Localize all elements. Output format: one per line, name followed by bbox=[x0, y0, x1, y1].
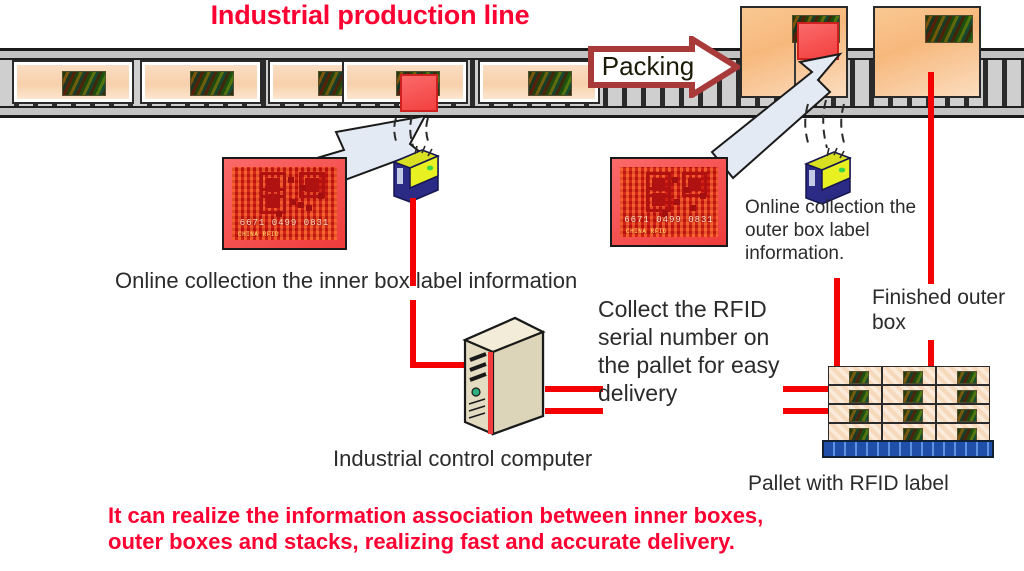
hologram-label-icon bbox=[849, 390, 869, 403]
qr-code-graphic: 6671 0499 0831 CHINA RFID bbox=[232, 167, 337, 240]
conveyor-rail-bottom bbox=[0, 106, 1024, 115]
hologram-label-icon bbox=[62, 71, 106, 96]
qr-serial-number: 6671 0499 0831 bbox=[232, 218, 337, 228]
pallet-base bbox=[822, 440, 994, 458]
caption-line-1: It can realize the information associati… bbox=[108, 503, 938, 529]
hologram-label-icon bbox=[957, 390, 977, 403]
pallet-box bbox=[882, 366, 936, 385]
label-pallet: Pallet with RFID label bbox=[748, 471, 1018, 496]
hologram-label-icon bbox=[903, 390, 923, 403]
pallet-box bbox=[936, 404, 990, 423]
pallet-box bbox=[828, 404, 882, 423]
pallet-box bbox=[936, 366, 990, 385]
hologram-label-icon bbox=[957, 371, 977, 384]
packing-label: Packing bbox=[598, 50, 698, 82]
qr-code-graphic: 6671 0499 0831 CHINA RFID bbox=[620, 167, 718, 237]
pallet-box bbox=[882, 385, 936, 404]
scan-beam-icon bbox=[796, 100, 856, 150]
hologram-label-icon bbox=[849, 409, 869, 422]
caption-line-2: outer boxes and stacks, realizing fast a… bbox=[108, 529, 938, 555]
hologram-label-icon bbox=[957, 409, 977, 422]
pallet-box bbox=[828, 385, 882, 404]
pallet-box bbox=[828, 366, 882, 385]
outer-box-rfid-label: 6671 0499 0831 CHINA RFID bbox=[610, 157, 728, 247]
wire-server-out-2 bbox=[545, 408, 603, 414]
inner-box bbox=[478, 60, 600, 104]
pallet-box bbox=[936, 385, 990, 404]
wire-server-out-1 bbox=[545, 386, 603, 392]
tower-server-icon bbox=[455, 312, 550, 437]
hologram-label-icon bbox=[849, 371, 869, 384]
wire-bus-left bbox=[410, 300, 416, 362]
summary-caption: It can realize the information associati… bbox=[108, 503, 938, 555]
label-finished-outer-box: Finished outer box bbox=[872, 285, 1012, 335]
hologram-label-icon bbox=[903, 409, 923, 422]
outer-box bbox=[873, 6, 981, 98]
scan-beam-icon bbox=[386, 116, 442, 148]
pallet-icon bbox=[828, 366, 988, 458]
qr-sub-text: CHINA RFID bbox=[626, 228, 667, 235]
callout-inner-collection: Online collection the inner box label in… bbox=[115, 268, 715, 293]
inner-box bbox=[12, 60, 134, 104]
hologram-label-icon bbox=[903, 371, 923, 384]
callout-outer-collection: Online collection the outer box label in… bbox=[745, 196, 930, 265]
rfid-tag-inner bbox=[400, 74, 438, 112]
page-title: Industrial production line bbox=[0, 0, 740, 32]
conveyor-rail-top bbox=[0, 51, 1024, 60]
label-industrial-computer: Industrial control computer bbox=[333, 446, 673, 471]
pallet-box bbox=[882, 404, 936, 423]
inner-box bbox=[140, 60, 262, 104]
hologram-label-icon bbox=[190, 71, 234, 96]
wire-scanner-right-down bbox=[834, 278, 840, 370]
qr-sub-text: CHINA RFID bbox=[238, 231, 279, 238]
diagram-canvas: Industrial production line Packing bbox=[0, 0, 1024, 571]
hologram-label-icon bbox=[528, 71, 572, 96]
barcode-scanner-icon-left bbox=[388, 144, 440, 206]
inner-box-rfid-label: 6671 0499 0831 CHINA RFID bbox=[222, 157, 347, 250]
callout-collect-serial: Collect the RFID serial number on the pa… bbox=[598, 295, 783, 407]
qr-serial-number: 6671 0499 0831 bbox=[620, 215, 718, 225]
hologram-label-icon bbox=[925, 15, 973, 43]
